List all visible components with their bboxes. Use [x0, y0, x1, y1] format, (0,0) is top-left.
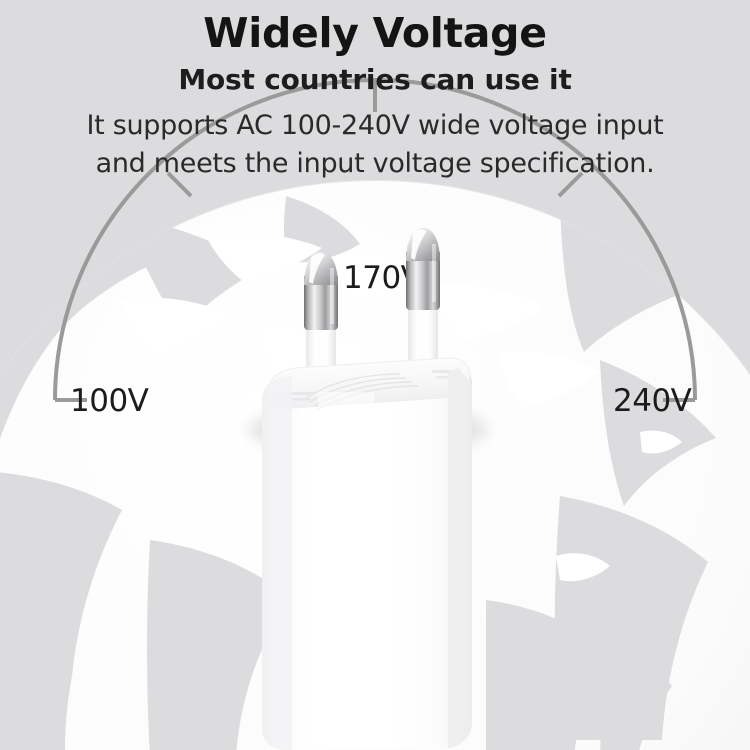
page-description: It supports AC 100-240V wide voltage inp…: [0, 107, 750, 183]
page-subtitle: Most countries can use it: [0, 61, 750, 99]
header-block: Widely Voltage Most countries can use it…: [0, 0, 750, 183]
charger-body: [262, 358, 472, 750]
product-feature-image: 100V 170V 240V: [0, 0, 750, 750]
page-title: Widely Voltage: [0, 7, 750, 59]
description-line-2: and meets the input voltage specificatio…: [0, 145, 750, 183]
description-line-1: It supports AC 100-240V wide voltage inp…: [0, 107, 750, 145]
